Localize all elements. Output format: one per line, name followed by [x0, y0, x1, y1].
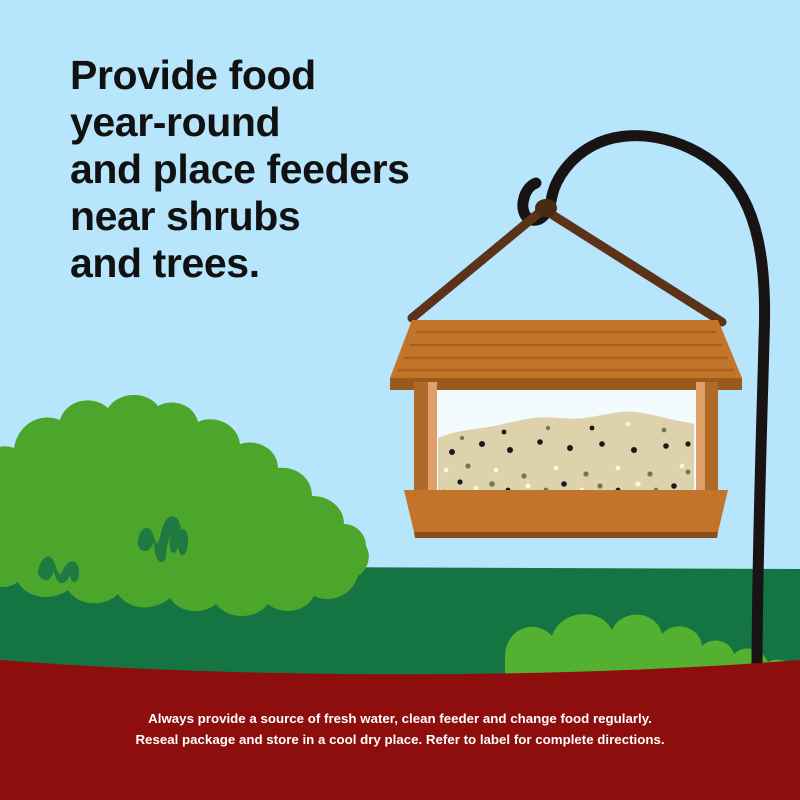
feeder-post-left-highlight [428, 382, 437, 498]
feeder-roof-lip [390, 378, 742, 390]
illustration-scene [0, 0, 800, 800]
feeder-base-shadow [414, 532, 718, 538]
bird-feeder-tip-card: Provide food year-round and place feeder… [0, 0, 800, 800]
wooden-hopper-bird-feeder [390, 320, 742, 538]
red-footer-banner [0, 660, 800, 800]
feeder-post-right-highlight [696, 382, 705, 498]
feeder-base [404, 490, 728, 532]
